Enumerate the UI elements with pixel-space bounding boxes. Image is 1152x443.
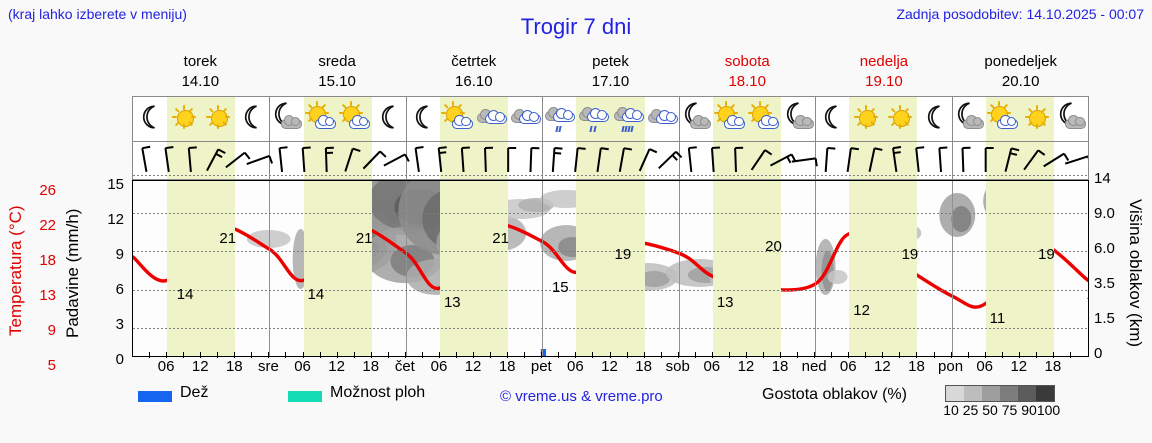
precip-tick-3: 6: [100, 281, 124, 298]
x-tick-label-13: 12: [601, 358, 618, 375]
cloud-icon-blue: [997, 119, 1018, 129]
weather-icon-cell-7: [372, 97, 406, 141]
x-tick-41: [831, 352, 832, 358]
x-tick-label-9: 12: [465, 358, 482, 375]
weather-icon-moon-cloud: [1054, 97, 1088, 141]
wind-barb-40: [1044, 154, 1069, 174]
day-header-5: nedelja19.10: [816, 52, 953, 94]
wind-barb-16: [508, 148, 516, 172]
x-tick-42: [848, 352, 849, 358]
cloud-icon-blue: [587, 112, 609, 122]
moon-icon: [926, 105, 944, 129]
temperature-label-11: 19: [902, 246, 919, 263]
wind-barb-2: [189, 147, 199, 172]
weather-icon-sun: [201, 97, 235, 141]
x-tick-22: [507, 352, 508, 358]
x-tick-label-11: pet: [531, 358, 552, 375]
rain-drops-icon: [556, 126, 561, 132]
x-tick-label-6: 18: [362, 358, 379, 375]
last-updated: Zadnja posodobitev: 14.10.2025 - 00:07: [896, 6, 1144, 22]
x-tick-44: [882, 352, 883, 358]
wind-barb-5: [247, 156, 272, 172]
x-tick-50: [985, 352, 986, 358]
x-tick-48: [951, 352, 952, 358]
wind-barb-10: [363, 151, 385, 174]
weather-icon-moon: [815, 97, 849, 141]
x-tick-28: [610, 352, 611, 358]
weather-icon-sun-cloud: [986, 97, 1020, 141]
plot-hgridline-0: [133, 213, 1088, 214]
weather-icon-moon-cloud: [952, 97, 986, 141]
x-tick-label-7: čet: [395, 358, 415, 375]
cloud-icon-grey: [690, 119, 711, 129]
temperature-label-2: 14: [308, 286, 325, 303]
day-date: 18.10: [679, 72, 816, 92]
weather-icon-sun-cloud: [338, 97, 372, 141]
temperature-label-3: 21: [356, 230, 373, 247]
temperature-label-14: 14: [1086, 286, 1089, 303]
weather-icon-cell-27: [1054, 97, 1088, 141]
wind-barb-11: [384, 154, 409, 172]
x-tick-24: [541, 352, 542, 358]
day-date: 14.10: [132, 72, 269, 92]
weather-icon-cell-22: [883, 97, 917, 141]
x-tick-label-4: 06: [294, 358, 311, 375]
weather-icon-sun: [1020, 97, 1054, 141]
cloud-tick-3: 3.5: [1094, 275, 1132, 292]
day-header-0: torek14.10: [132, 52, 269, 94]
x-tick-label-21: 12: [874, 358, 891, 375]
plot-day-gridline-5: [815, 181, 816, 356]
temperature-label-7: 19: [615, 246, 632, 263]
x-tick-label-12: 06: [567, 358, 584, 375]
x-tick-52: [1019, 352, 1020, 358]
day-header-2: četrtek16.10: [405, 52, 542, 94]
temperature-label-0: 14: [177, 286, 194, 303]
x-tick-10: [303, 352, 304, 358]
x-tick-32: [678, 352, 679, 358]
weather-icon-cell-23: [917, 97, 951, 141]
day-header-6: ponedeljek20.10: [952, 52, 1089, 94]
temperature-label-10: 12: [853, 302, 870, 319]
x-tick-3: [183, 352, 184, 358]
weather-icon-moon: [917, 97, 951, 141]
x-tick-43: [865, 352, 866, 358]
wind-barb-19: [575, 148, 585, 173]
weather-icon-cell-8: [406, 97, 440, 141]
density-segment-3: [1000, 386, 1018, 401]
x-tick-19: [456, 352, 457, 358]
x-tick-label-19: ned: [802, 358, 827, 375]
weather-icon-moon: [133, 97, 167, 141]
precipitation-axis-title: Padavine (mm/h): [60, 176, 86, 371]
plot-hgridline-1: [133, 251, 1088, 252]
x-tick-18: [439, 352, 440, 358]
x-tick-40: [814, 352, 815, 358]
wind-barb-20: [597, 148, 608, 173]
wind-barb-1: [165, 147, 176, 172]
temperature-label-8: 13: [717, 294, 734, 311]
x-tick-26: [575, 352, 576, 358]
weather-icon-sun: [883, 97, 917, 141]
day-header-strip: torek14.10sreda15.10četrtek16.10petek17.…: [132, 52, 1089, 94]
x-tick-6: [234, 352, 235, 358]
weather-icon-cloud-rain1: [542, 97, 576, 141]
weather-icon-sun-cloud: [713, 97, 747, 141]
cloud-density-tick-labels: 1025507590100: [941, 402, 1063, 420]
wind-barbs: [133, 142, 1088, 178]
day-date: 16.10: [405, 72, 542, 92]
wind-barb-8: [326, 148, 335, 172]
density-segment-1: [964, 386, 982, 401]
wind-barb-12: [416, 147, 427, 172]
day-date: 15.10: [269, 72, 406, 92]
plot-day-gridline-2: [406, 181, 407, 356]
x-tick-label-17: 12: [738, 358, 755, 375]
wind-barb-22: [640, 149, 657, 174]
x-tick-label-10: 18: [499, 358, 516, 375]
plot-day-gridline-6: [952, 181, 953, 356]
x-tick-17: [422, 352, 423, 358]
temperature-label-13: 19: [1038, 246, 1055, 263]
wind-barb-23: [659, 152, 682, 174]
weather-icon-sun-cloud: [747, 97, 781, 141]
rain-drops-icon: [590, 126, 595, 132]
cloud-icon-grey: [281, 119, 302, 129]
weather-icon-cell-1: [167, 97, 201, 141]
weather-icon-cell-20: [815, 97, 849, 141]
plot-day-gridline-1: [269, 181, 270, 356]
x-tick-2: [166, 352, 167, 358]
temp-tick-1: 22: [30, 217, 56, 234]
plot-hgridline-2: [133, 290, 1088, 291]
density-tick-0: 10: [943, 402, 959, 418]
x-tick-38: [780, 352, 781, 358]
wind-barb-15: [485, 148, 494, 172]
rain-legend-label: Dež: [180, 384, 208, 402]
weather-icon-moon: [406, 97, 440, 141]
weather-icon-panel: [132, 96, 1089, 142]
weather-icon-cell-3: [235, 97, 269, 141]
weather-icon-cloud: [474, 97, 508, 141]
day-date: 17.10: [542, 72, 679, 92]
meteogram-plot: 142114211321151913201219111914: [132, 180, 1089, 357]
rain-legend-swatch: [138, 391, 172, 402]
x-tick-label-2: 18: [226, 358, 243, 375]
precip-tick-4: 3: [100, 316, 124, 333]
cloud-blob-43: [951, 206, 971, 232]
precip-tick-1: 12: [100, 211, 124, 228]
weather-icon-cell-24: [952, 97, 986, 141]
weather-icon-cell-4: [269, 97, 303, 141]
x-tick-25: [558, 352, 559, 358]
wind-barb-39: [1024, 150, 1045, 174]
cloud-tick-1: 9.0: [1094, 205, 1132, 222]
cloud-icon-blue: [519, 114, 541, 124]
weather-icon-sun-cloud: [440, 97, 474, 141]
temp-tick-4: 9: [30, 322, 56, 339]
daylight-band-0: [167, 181, 235, 356]
wind-barb-26: [735, 148, 744, 172]
weather-icon-cell-5: [304, 97, 338, 141]
daylight-band-4: [713, 181, 781, 356]
x-tick-label-1: 12: [192, 358, 209, 375]
daylight-band-6: [986, 181, 1054, 356]
density-segment-0: [946, 386, 964, 401]
moon-icon: [414, 105, 432, 129]
daylight-band-5: [849, 181, 917, 356]
wind-barb-panel: [132, 142, 1089, 180]
wind-barb-28: [770, 154, 795, 172]
moon-icon: [141, 105, 159, 129]
x-tick-label-23: pon: [938, 358, 963, 375]
wind-barb-25: [712, 147, 722, 171]
precip-tick-0: 15: [100, 176, 124, 193]
weather-icon-cell-14: [611, 97, 645, 141]
wind-barb-34: [916, 147, 926, 172]
x-tick-9: [285, 352, 286, 358]
wind-barb-35: [939, 147, 949, 171]
cloud-density-gradient: [945, 385, 1055, 402]
x-tick-31: [661, 352, 662, 358]
cloud-tick-5: 0: [1094, 345, 1132, 362]
cloud-icon-blue: [656, 114, 678, 124]
weather-icon-moon-cloud: [781, 97, 815, 141]
x-tick-label-25: 12: [1010, 358, 1027, 375]
x-tick-30: [644, 352, 645, 358]
sun-icon: [207, 106, 229, 128]
weather-icon-cell-19: [781, 97, 815, 141]
cloud-icon-blue: [452, 119, 473, 129]
x-tick-label-3: sre: [258, 358, 279, 375]
moon-icon: [243, 105, 261, 129]
x-tick-label-20: 06: [840, 358, 857, 375]
weather-icon-moon: [372, 97, 406, 141]
x-tick-37: [763, 352, 764, 358]
sun-icon: [1026, 106, 1048, 128]
weather-icon-moon: [235, 97, 269, 141]
day-date: 19.10: [816, 72, 953, 92]
rain-drops-icon: [622, 126, 633, 132]
weather-icon-moon-cloud: [679, 97, 713, 141]
wind-barb-38: [1006, 148, 1020, 173]
cloud-icon-grey: [1065, 119, 1086, 129]
x-tick-label-14: 18: [635, 358, 652, 375]
x-tick-34: [712, 352, 713, 358]
wind-barb-6: [280, 147, 290, 172]
weather-icon-cell-6: [338, 97, 372, 141]
x-tick-label-15: sob: [666, 358, 690, 375]
x-tick-47: [934, 352, 935, 358]
x-tick-label-26: 18: [1045, 358, 1062, 375]
precip-tick-2: 9: [100, 246, 124, 263]
x-tick-35: [729, 352, 730, 358]
daylight-band-3: [576, 181, 644, 356]
x-tick-29: [627, 352, 628, 358]
day-header-3: petek17.10: [542, 52, 679, 94]
x-tick-27: [592, 352, 593, 358]
day-name: petek: [542, 52, 679, 72]
x-tick-54: [1053, 352, 1054, 358]
wind-barb-0: [142, 147, 154, 172]
temperature-axis-title: Temperatura (°C): [4, 176, 28, 366]
wind-barb-32: [869, 148, 882, 173]
sun-icon: [855, 106, 877, 128]
x-tick-1: [149, 352, 150, 358]
x-tick-label-8: 06: [431, 358, 448, 375]
cloud-icon-grey: [793, 119, 814, 129]
sun-icon: [173, 106, 195, 128]
x-tick-20: [473, 352, 474, 358]
weather-icon-cloud: [508, 97, 542, 141]
day-header-4: sobota18.10: [679, 52, 816, 94]
credit-link[interactable]: © vreme.us & vreme.pro: [500, 388, 663, 405]
weather-icon-cell-10: [474, 97, 508, 141]
weather-icon-cell-11: [508, 97, 542, 141]
wind-barb-36: [963, 148, 972, 172]
x-tick-label-24: 06: [976, 358, 993, 375]
daylight-band-2: [440, 181, 508, 356]
weather-icon-cell-9: [440, 97, 474, 141]
x-tick-55: [1070, 352, 1071, 358]
weather-icon-sun: [849, 97, 883, 141]
cloud-tick-0: 14: [1094, 170, 1132, 187]
x-tick-53: [1036, 352, 1037, 358]
cloud-tick-2: 6.0: [1094, 240, 1132, 257]
day-name: torek: [132, 52, 269, 72]
x-tick-label-18: 18: [772, 358, 789, 375]
x-tick-51: [1002, 352, 1003, 358]
wind-barb-37: [986, 148, 994, 172]
density-segment-2: [982, 386, 1000, 401]
x-tick-16: [405, 352, 406, 358]
x-tick-11: [320, 352, 321, 358]
temp-tick-3: 13: [30, 287, 56, 304]
x-axis-ticks: 061218sre061218čet061218pet061218sob0612…: [132, 358, 1089, 378]
x-tick-5: [217, 352, 218, 358]
wind-baseline: [133, 175, 1088, 176]
temperature-label-5: 21: [492, 230, 509, 247]
wind-barb-21: [620, 148, 632, 173]
daylight-band-1: [304, 181, 372, 356]
x-tick-12: [337, 352, 338, 358]
density-tick-5: 100: [1037, 402, 1060, 418]
x-tick-label-5: 12: [328, 358, 345, 375]
weather-icon-cell-21: [849, 97, 883, 141]
weather-icon-cloud-rain2: [611, 97, 645, 141]
x-tick-33: [695, 352, 696, 358]
weather-icon-cell-0: [133, 97, 167, 141]
cloud-icon-blue: [553, 112, 575, 122]
plot-hgridline-3: [133, 328, 1088, 329]
weather-icon-cloud-rain1: [576, 97, 610, 141]
weather-icon-sun: [167, 97, 201, 141]
x-tick-45: [899, 352, 900, 358]
day-name: ponedeljek: [952, 52, 1089, 72]
showers-legend-swatch: [288, 391, 322, 402]
weather-icon-cell-17: [713, 97, 747, 141]
x-tick-21: [490, 352, 491, 358]
weather-icon-cell-25: [986, 97, 1020, 141]
weather-icon-cell-13: [576, 97, 610, 141]
weather-icon-cell-2: [201, 97, 235, 141]
weather-icon-cell-16: [679, 97, 713, 141]
wind-barb-14: [462, 147, 472, 171]
cloud-icon-blue: [622, 112, 644, 122]
temp-tick-2: 18: [30, 252, 56, 269]
cloud-icon-blue: [758, 119, 779, 129]
plot-day-gridline-3: [542, 181, 543, 356]
showers-legend-label: Možnost ploh: [330, 384, 425, 402]
cloud-icon-grey: [963, 119, 984, 129]
wind-barb-4: [226, 153, 250, 174]
wind-barb-41: [1065, 156, 1088, 171]
x-tick-14: [371, 352, 372, 358]
x-tick-7: [251, 352, 252, 358]
day-header-1: sreda15.10: [269, 52, 406, 94]
cloud-icon-blue: [485, 114, 507, 124]
density-tick-2: 50: [982, 402, 998, 418]
wind-barb-30: [826, 148, 836, 172]
day-name: sreda: [269, 52, 406, 72]
temperature-label-9: 20: [765, 238, 782, 255]
sun-icon: [889, 106, 911, 128]
density-tick-1: 25: [963, 402, 979, 418]
temperature-label-12: 11: [990, 310, 1006, 327]
plot-day-gridline-4: [679, 181, 680, 356]
weather-icon-sun-cloud: [304, 97, 338, 141]
moon-icon: [380, 105, 398, 129]
x-tick-label-0: 06: [158, 358, 175, 375]
day-name: sobota: [679, 52, 816, 72]
weather-icon-cloud: [645, 97, 679, 141]
wind-barb-33: [893, 147, 904, 172]
x-tick-15: [388, 352, 389, 358]
wind-barb-31: [848, 148, 859, 173]
cloud-icon-blue: [349, 119, 370, 129]
density-tick-3: 75: [1002, 402, 1018, 418]
wind-barb-3: [207, 149, 225, 174]
weather-icon-moon-cloud: [269, 97, 303, 141]
temperature-label-6: 15: [552, 279, 569, 296]
weather-icon-cell-18: [747, 97, 781, 141]
x-tick-46: [916, 352, 917, 358]
wind-barb-9: [345, 149, 360, 174]
wind-barb-27: [752, 150, 772, 174]
temp-tick-5: 5: [30, 357, 56, 374]
temperature-label-1: 21: [219, 230, 236, 247]
cloud-icon-blue: [724, 119, 745, 129]
density-tick-4: 90: [1021, 402, 1037, 418]
x-tick-49: [968, 352, 969, 358]
x-tick-label-22: 18: [908, 358, 925, 375]
wind-barb-7: [303, 147, 313, 171]
cloud-density-label: Gostota oblakov (%): [762, 386, 907, 404]
precip-tick-5: 0: [100, 351, 124, 368]
weather-icon-cell-15: [645, 97, 679, 141]
cloud-blob-38: [828, 270, 848, 284]
x-tick-label-16: 06: [703, 358, 720, 375]
wind-barb-13: [439, 147, 449, 172]
density-segment-5: [1036, 386, 1054, 401]
wind-barb-24: [689, 147, 699, 172]
x-tick-4: [200, 352, 201, 358]
cloud-tick-4: 1.5: [1094, 310, 1132, 327]
weather-icon-cell-12: [542, 97, 576, 141]
x-tick-23: [524, 352, 525, 358]
day-name: nedelja: [816, 52, 953, 72]
wind-barb-18: [553, 148, 563, 172]
